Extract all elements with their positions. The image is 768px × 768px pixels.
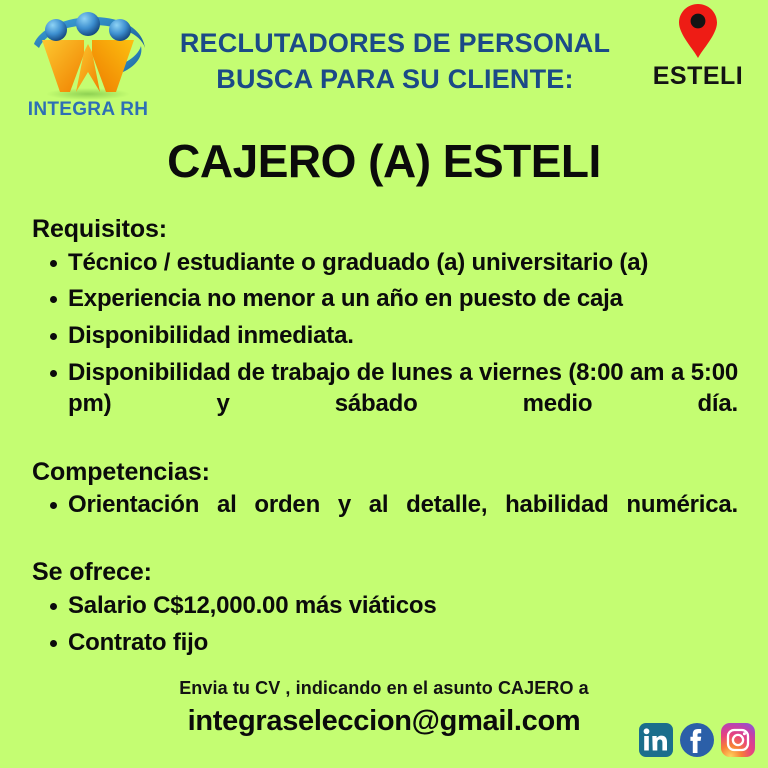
person-head-center-icon (76, 12, 100, 36)
location-block: ESTELI (632, 2, 764, 89)
competencias-list: Orientación al orden y al detalle, habil… (32, 489, 738, 552)
cv-instruction: Envia tu CV , indicando en el asunto CAJ… (0, 678, 768, 700)
headline: RECLUTADORES DE PERSONAL BUSCA PARA SU C… (160, 26, 630, 98)
poster-header: INTEGRA RH RECLUTADORES DE PERSONAL BUSC… (0, 0, 768, 128)
list-item: Disponibilidad de trabajo de lunes a vie… (32, 357, 738, 452)
job-posting-poster: INTEGRA RH RECLUTADORES DE PERSONAL BUSC… (0, 0, 768, 768)
facebook-icon[interactable] (679, 722, 715, 758)
section-competencias: Competencias: Orientación al orden y al … (32, 457, 738, 553)
pin-center-dot (691, 14, 706, 29)
headline-line-2: BUSCA PARA SU CLIENTE: (160, 62, 630, 98)
linkedin-icon[interactable] (638, 722, 674, 758)
person-head-left-icon (45, 19, 67, 41)
section-heading: Se ofrece: (32, 557, 738, 588)
location-label: ESTELI (632, 64, 764, 89)
list-item: Salario C$12,000.00 más viáticos (32, 590, 738, 622)
social-links (638, 722, 756, 758)
se-ofrece-list: Salario C$12,000.00 más viáticos Contrat… (32, 590, 738, 658)
job-title: CAJERO (A) ESTELI (0, 136, 768, 187)
poster-body: Requisitos: Técnico / estudiante o gradu… (32, 214, 738, 663)
map-pin-icon (677, 2, 719, 60)
list-item: Técnico / estudiante o graduado (a) univ… (32, 247, 738, 279)
section-heading: Competencias: (32, 457, 738, 488)
person-head-right-icon (109, 19, 131, 41)
pin-body-shape (679, 4, 717, 58)
section-se-ofrece: Se ofrece: Salario C$12,000.00 más viáti… (32, 557, 738, 658)
list-item: Contrato fijo (32, 627, 738, 659)
list-item: Experiencia no menor a un año en puesto … (32, 283, 738, 315)
section-requisitos: Requisitos: Técnico / estudiante o gradu… (32, 214, 738, 452)
logo-wordmark: INTEGRA RH (18, 100, 158, 119)
requisitos-list: Técnico / estudiante o graduado (a) univ… (32, 247, 738, 452)
section-heading: Requisitos: (32, 214, 738, 245)
list-item: Disponibilidad inmediata. (32, 320, 738, 352)
integra-rh-logo-icon (26, 8, 150, 100)
list-item: Orientación al orden y al detalle, habil… (32, 489, 738, 552)
company-logo: INTEGRA RH (18, 8, 158, 126)
headline-line-1: RECLUTADORES DE PERSONAL (160, 26, 630, 62)
instagram-icon[interactable] (720, 722, 756, 758)
